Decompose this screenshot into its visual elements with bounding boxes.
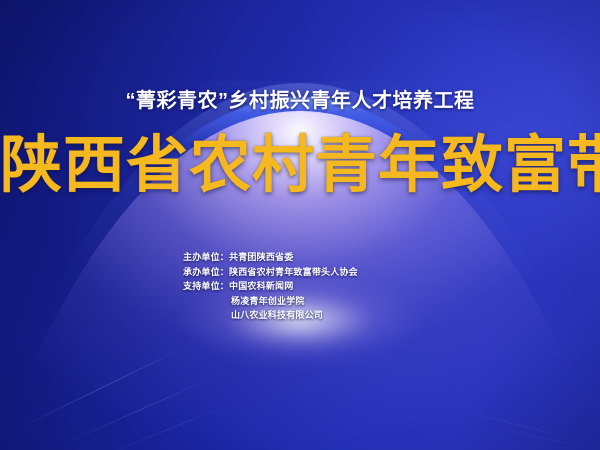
banner-content: “菁彩青农”乡村振兴青年人才培养工程 陕西省农村青年致富带头人培训班 主办单位：… <box>0 0 600 450</box>
banner-main-title: 陕西省农村青年致富带头人培训班 <box>0 133 600 198</box>
organizer-value: 杨凌青年创业学院 <box>231 296 305 306</box>
banner-poster: “菁彩青农”乡村振兴青年人才培养工程 陕西省农村青年致富带头人培训班 主办单位：… <box>0 0 600 450</box>
organizer-line: 支持单位：中国农科新闻网 <box>183 279 358 294</box>
organizer-label: 支持单位： <box>183 281 229 291</box>
organizer-value: 中国农科新闻网 <box>229 281 293 291</box>
organizer-label: 主办单位： <box>183 252 229 262</box>
organizer-line: 承办单位：陕西省农村青年致富带头人协会 <box>183 265 358 280</box>
organizer-line: 山八农业科技有限公司 <box>183 308 358 323</box>
organizer-label: 承办单位： <box>183 267 229 277</box>
organizer-value: 共青团陕西省委 <box>229 252 293 262</box>
organizer-value: 山八农业科技有限公司 <box>231 310 323 320</box>
organizer-value: 陕西省农村青年致富带头人协会 <box>229 267 358 277</box>
organizer-line: 主办单位：共青团陕西省委 <box>183 250 358 265</box>
organizer-block: 主办单位：共青团陕西省委 承办单位：陕西省农村青年致富带头人协会 支持单位：中国… <box>183 250 358 323</box>
organizer-line: 杨凌青年创业学院 <box>183 294 358 309</box>
banner-subtitle: “菁彩青农”乡村振兴青年人才培养工程 <box>0 84 600 113</box>
